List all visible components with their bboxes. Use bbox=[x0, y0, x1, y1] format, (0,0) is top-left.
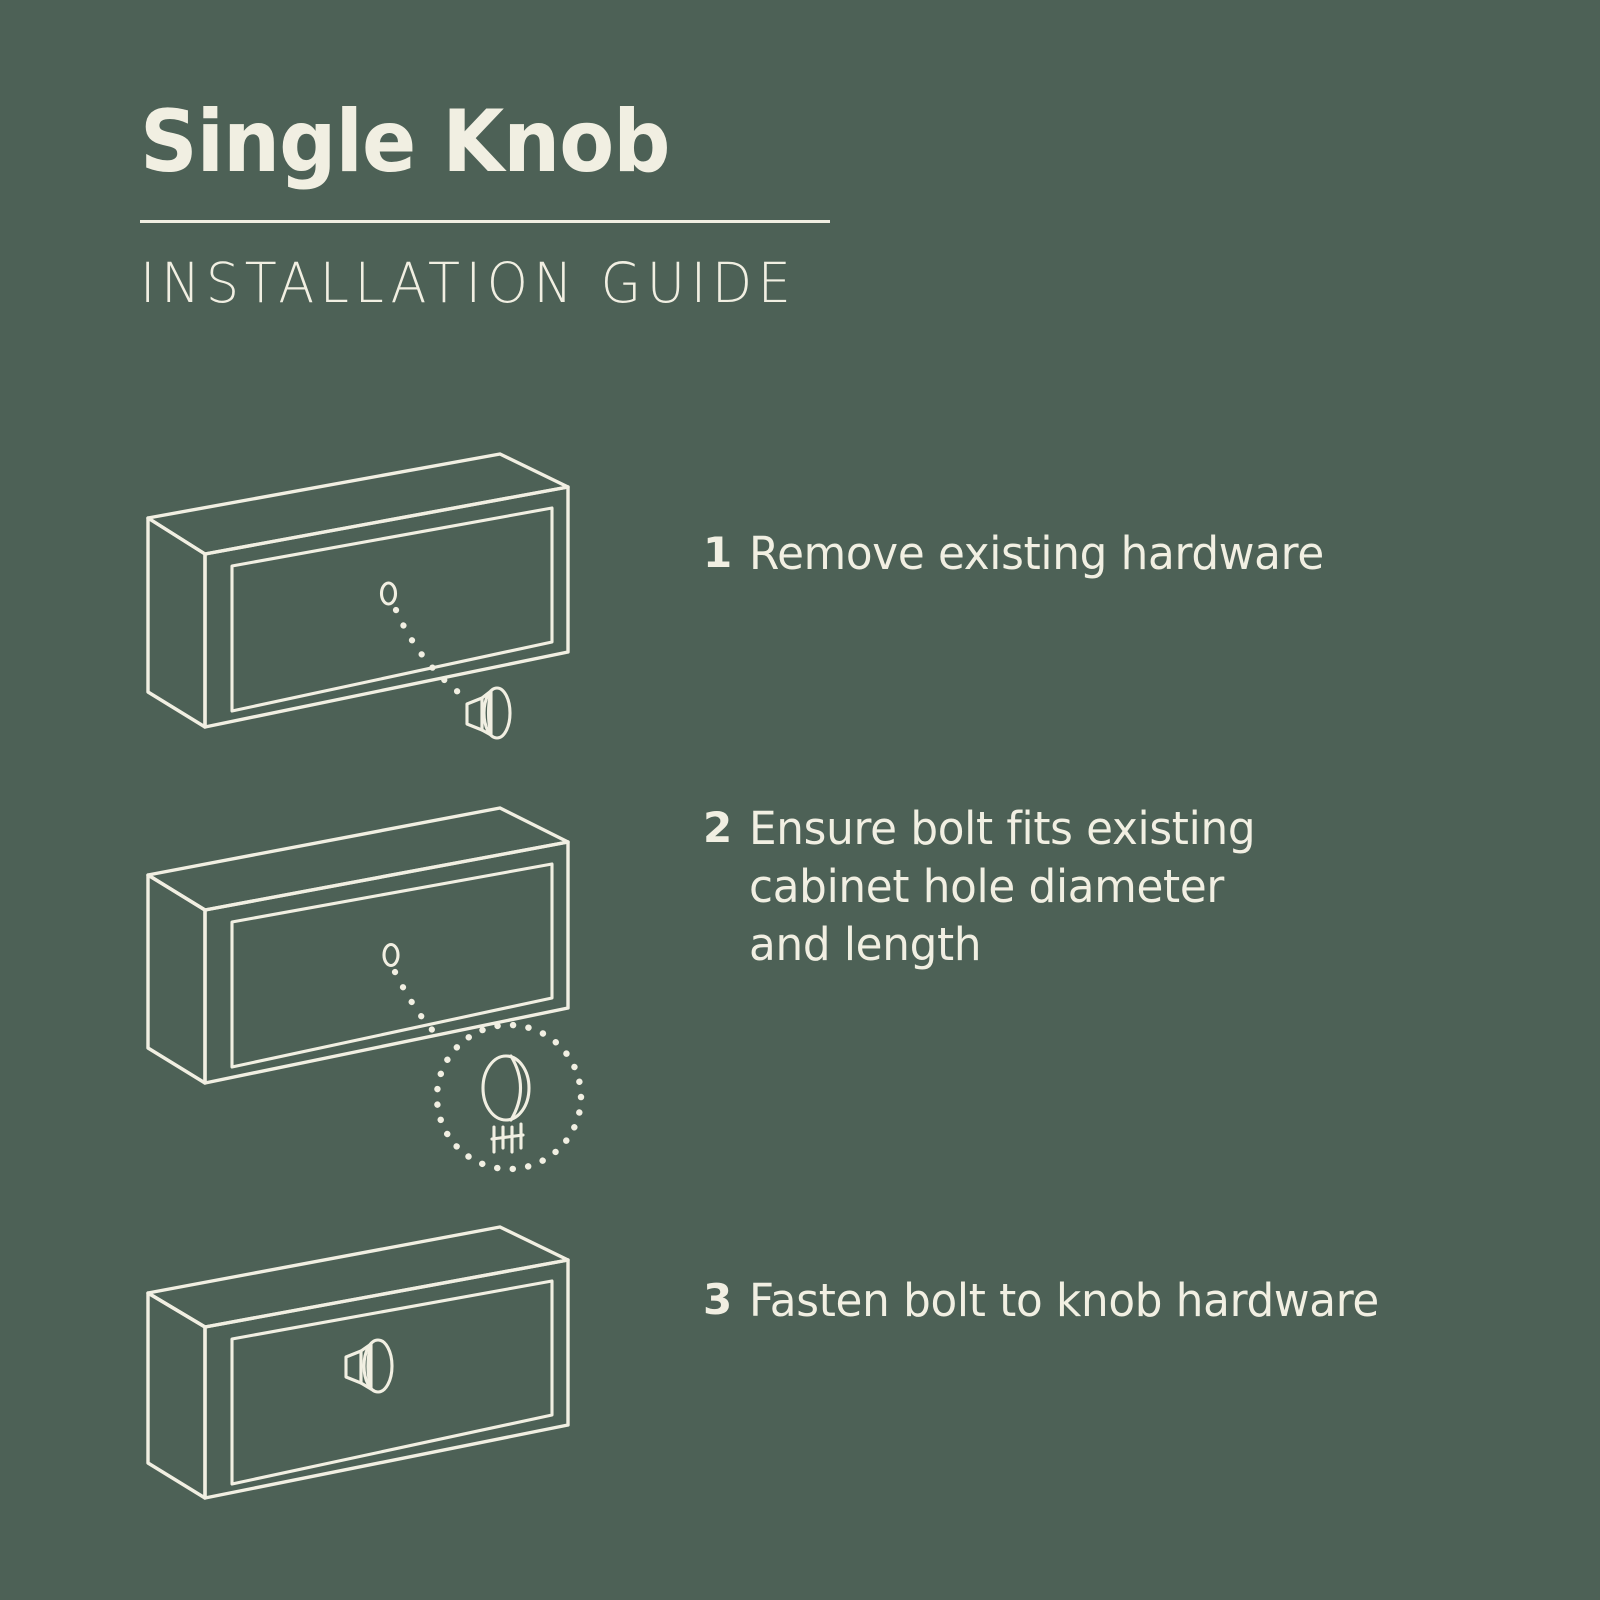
bolt-thread-baseline bbox=[492, 1135, 523, 1139]
bolt-head bbox=[483, 1056, 529, 1120]
page-title: Single Knob bbox=[140, 96, 847, 188]
cabinet-with-knob-installed-icon bbox=[120, 1205, 580, 1505]
bolt-magnified-icon bbox=[483, 1056, 529, 1152]
step-number: 3 bbox=[703, 1272, 749, 1328]
step-number: 2 bbox=[703, 800, 749, 856]
header: Single Knob INSTALLATION GUIDE bbox=[140, 96, 900, 313]
step-number: 1 bbox=[703, 525, 749, 581]
cabinet-with-magnified-bolt-icon bbox=[120, 790, 600, 1190]
cabinet-front-face bbox=[205, 487, 568, 727]
step-label: Remove existing hardware bbox=[749, 525, 1324, 583]
installation-guide-poster: Single Knob INSTALLATION GUIDE bbox=[0, 0, 1600, 1600]
bolt-head-shade-edge bbox=[511, 1056, 521, 1120]
cabinet-hole-icon bbox=[382, 583, 396, 604]
page-subtitle: INSTALLATION GUIDE bbox=[140, 253, 862, 313]
cabinet-top-face bbox=[148, 808, 568, 910]
cabinet-hole-icon bbox=[384, 945, 398, 966]
step-item-2: 2 Ensure bolt fits existing cabinet hole… bbox=[703, 800, 1323, 974]
cabinet-top-face bbox=[148, 454, 568, 554]
step-item-1: 1 Remove existing hardware bbox=[703, 525, 1342, 583]
step-label: Fasten bolt to knob hardware bbox=[749, 1272, 1379, 1330]
knob-icon bbox=[467, 688, 510, 738]
knob-installed-icon bbox=[346, 1340, 392, 1392]
cabinet-with-knob-removed-icon bbox=[120, 430, 580, 760]
cabinet-front-face bbox=[205, 1260, 568, 1498]
step-label: Ensure bolt fits existing cabinet hole d… bbox=[749, 800, 1306, 974]
cabinet-top-face bbox=[148, 1227, 568, 1327]
title-divider bbox=[140, 220, 830, 223]
knob-bolt-stem bbox=[467, 698, 482, 730]
magnifier-circle-dotted bbox=[437, 1025, 581, 1169]
knob-bolt-stem bbox=[346, 1351, 361, 1383]
step-item-3: 3 Fasten bolt to knob hardware bbox=[703, 1272, 1398, 1330]
